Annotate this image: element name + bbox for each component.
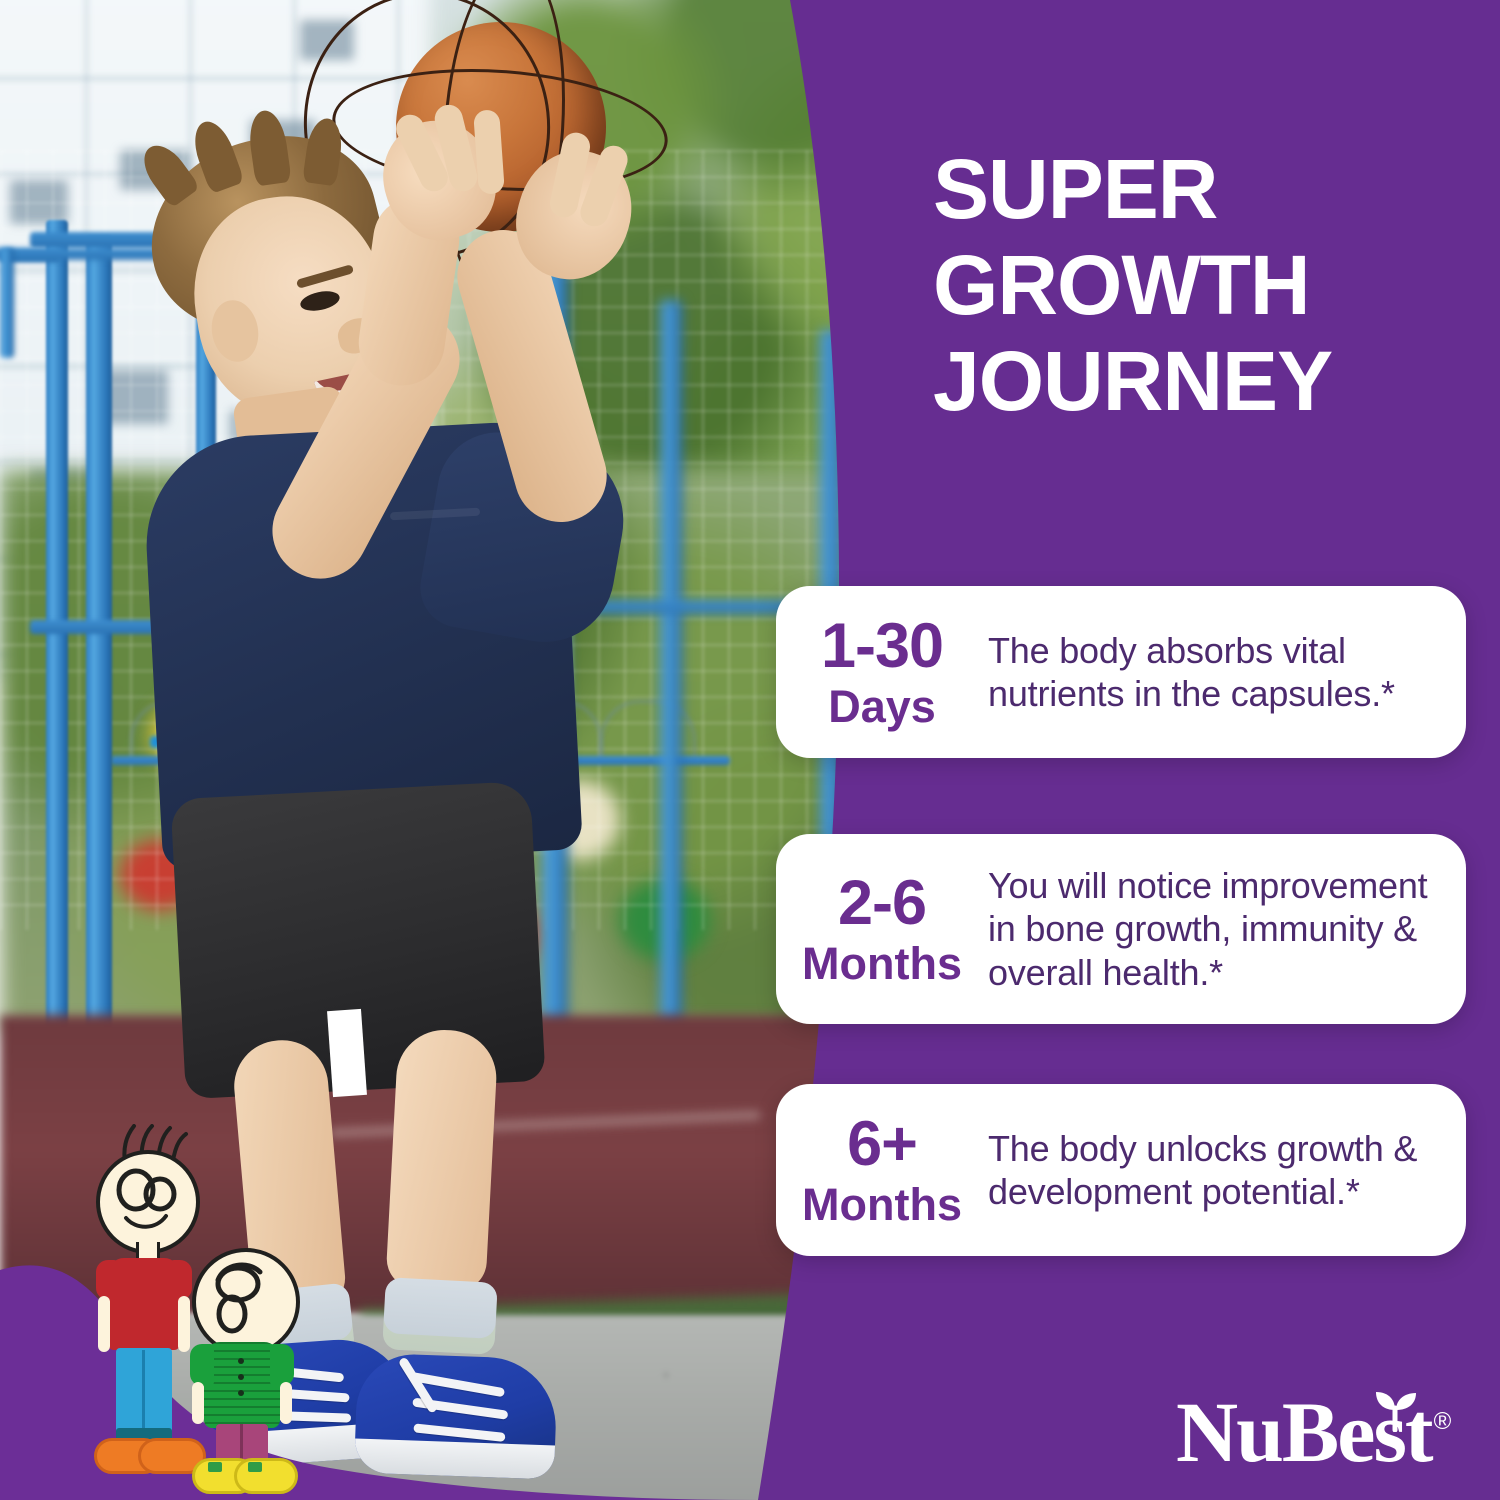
timeline-card-1-period: 1-30 Days — [776, 615, 988, 729]
timeline-card-3: 6+ Months The body unlocks growth & deve… — [776, 1084, 1466, 1256]
title-line-2: GROWTH — [933, 238, 1473, 334]
page-title: SUPER GROWTH JOURNEY — [933, 142, 1473, 429]
registered-trademark: ® — [1434, 1408, 1452, 1436]
title-line-3: JOURNEY — [933, 334, 1473, 430]
timeline-card-3-description: The body unlocks growth & development po… — [988, 1127, 1466, 1213]
mascot-head — [192, 1248, 300, 1356]
timeline-card-2: 2-6 Months You will notice improvement i… — [776, 834, 1466, 1024]
timeline-card-2-description: You will notice improvement in bone grow… — [988, 864, 1466, 994]
timeline-card-1-description: The body absorbs vital nutrients in the … — [988, 629, 1466, 715]
timeline-card-1: 1-30 Days The body absorbs vital nutrien… — [776, 586, 1466, 758]
timeline-card-3-period: 6+ Months — [776, 1113, 988, 1227]
leaf-sprout-icon — [1368, 1388, 1424, 1432]
period-value: 6+ — [776, 1113, 988, 1176]
mascot-shoe — [234, 1458, 298, 1494]
mascot-shirt — [204, 1342, 280, 1428]
infographic-canvas: SUPER GROWTH JOURNEY 1-30 Days The body … — [0, 0, 1500, 1500]
period-unit: Days — [776, 684, 988, 729]
short-mascot — [186, 1248, 306, 1478]
period-value: 1-30 — [776, 615, 988, 678]
brand-logo: NuBest ® — [1176, 1392, 1451, 1474]
title-line-1: SUPER — [933, 142, 1473, 238]
mascot-head — [96, 1150, 200, 1254]
timeline-card-2-period: 2-6 Months — [776, 872, 988, 986]
period-unit: Months — [776, 1182, 988, 1227]
period-unit: Months — [776, 941, 988, 986]
period-value: 2-6 — [776, 872, 988, 935]
